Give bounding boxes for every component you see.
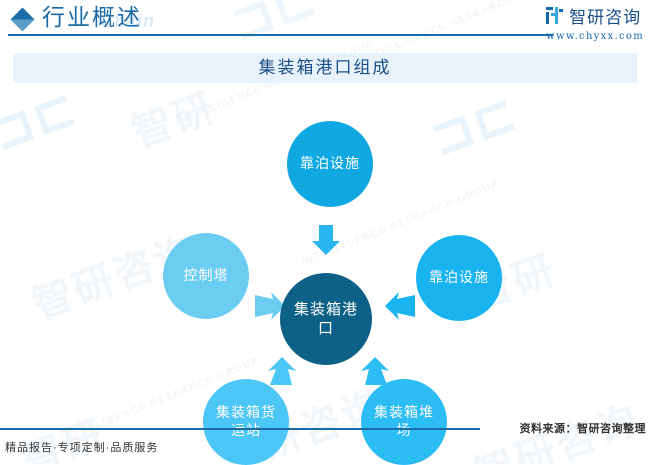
circle-diagram: 靠泊设施 靠泊设施 控制塔 集装箱堆场 集装箱货运站 集装箱港口 xyxy=(13,83,637,408)
arrow-right-to-center-icon xyxy=(383,289,417,323)
page-header: Chain 行业概述 智研咨询 www.chyxx.com xyxy=(0,0,650,44)
node-berthing-facility-right[interactable]: 靠泊设施 xyxy=(416,235,502,321)
zhiyan-logo-icon xyxy=(546,7,563,24)
arrow-top-to-center-icon xyxy=(309,223,343,257)
node-container-freight-station[interactable]: 集装箱货运站 xyxy=(203,379,289,465)
node-container-yard[interactable]: 集装箱堆场 xyxy=(361,379,447,465)
footer-source: 资料来源：智研咨询整理 xyxy=(520,420,647,436)
diamond-icon xyxy=(10,7,34,31)
footer-divider xyxy=(0,428,480,430)
node-label: 集装箱港口 xyxy=(280,300,372,338)
page-title: 行业概述 xyxy=(42,4,142,32)
node-label: 集装箱堆场 xyxy=(361,404,447,440)
header-divider xyxy=(8,34,553,36)
node-berthing-facility-top[interactable]: 靠泊设施 xyxy=(287,121,373,207)
brand-url[interactable]: www.chyxx.com xyxy=(546,31,644,42)
footer-tagline: 精品报告·专项定制·品质服务 xyxy=(5,439,158,455)
node-label: 集装箱货运站 xyxy=(203,404,289,440)
brand-name: 智研咨询 xyxy=(569,3,641,28)
node-label: 控制塔 xyxy=(176,267,237,285)
node-control-tower[interactable]: 控制塔 xyxy=(163,233,249,319)
node-label: 靠泊设施 xyxy=(421,269,497,287)
chart-panel: 集装箱港口组成 靠泊设施 靠泊设施 控制塔 集装箱堆场 xyxy=(13,53,637,408)
node-label: 靠泊设施 xyxy=(292,155,368,173)
arrow-bottomleft-to-center-icon xyxy=(266,355,300,389)
brand-block[interactable]: 智研咨询 www.chyxx.com xyxy=(546,3,644,42)
brand-row: 智研咨询 xyxy=(546,3,644,28)
node-container-port-center[interactable]: 集装箱港口 xyxy=(280,273,372,365)
chart-title: 集装箱港口组成 xyxy=(13,53,637,83)
